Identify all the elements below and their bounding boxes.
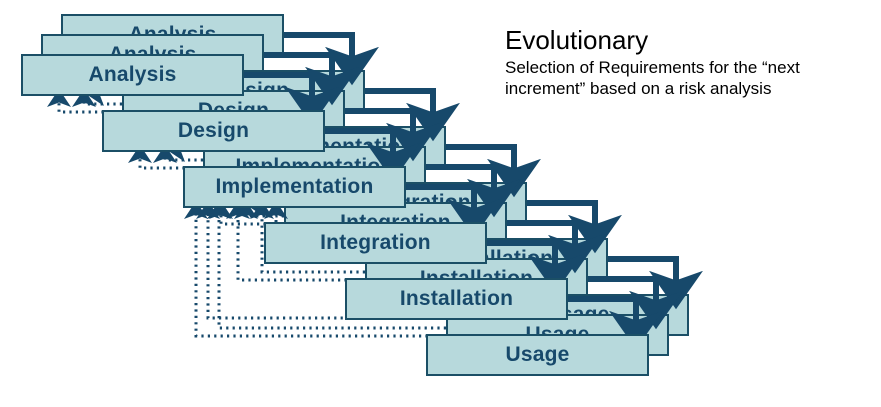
stage-label-usage: Usage xyxy=(505,343,569,367)
stage-box-installation-increment-3[interactable]: Installation xyxy=(345,278,568,320)
waterfall-diagram: AnalysisAnalysisAnalysisDesignDesignDesi… xyxy=(0,0,881,407)
stage-label-implementation: Implementation xyxy=(216,175,374,199)
caption-body: Selection of Requirements for the “next … xyxy=(505,57,875,100)
stage-box-implementation-increment-3[interactable]: Implementation xyxy=(183,166,406,208)
stage-label-integration: Integration xyxy=(320,231,431,255)
caption-line-1: Selection of Requirements for the “next xyxy=(505,57,875,78)
stage-box-analysis-increment-3[interactable]: Analysis xyxy=(21,54,244,96)
stage-label-installation: Installation xyxy=(400,287,513,311)
caption-block: Evolutionary Selection of Requirements f… xyxy=(505,26,875,100)
stage-box-design-increment-3[interactable]: Design xyxy=(102,110,325,152)
caption-title: Evolutionary xyxy=(505,26,875,54)
caption-line-2: increment” based on a risk analysis xyxy=(505,78,875,99)
stage-label-analysis: Analysis xyxy=(89,63,177,87)
stage-box-usage-increment-3[interactable]: Usage xyxy=(426,334,649,376)
stage-box-integration-increment-3[interactable]: Integration xyxy=(264,222,487,264)
stage-label-design: Design xyxy=(178,119,249,143)
